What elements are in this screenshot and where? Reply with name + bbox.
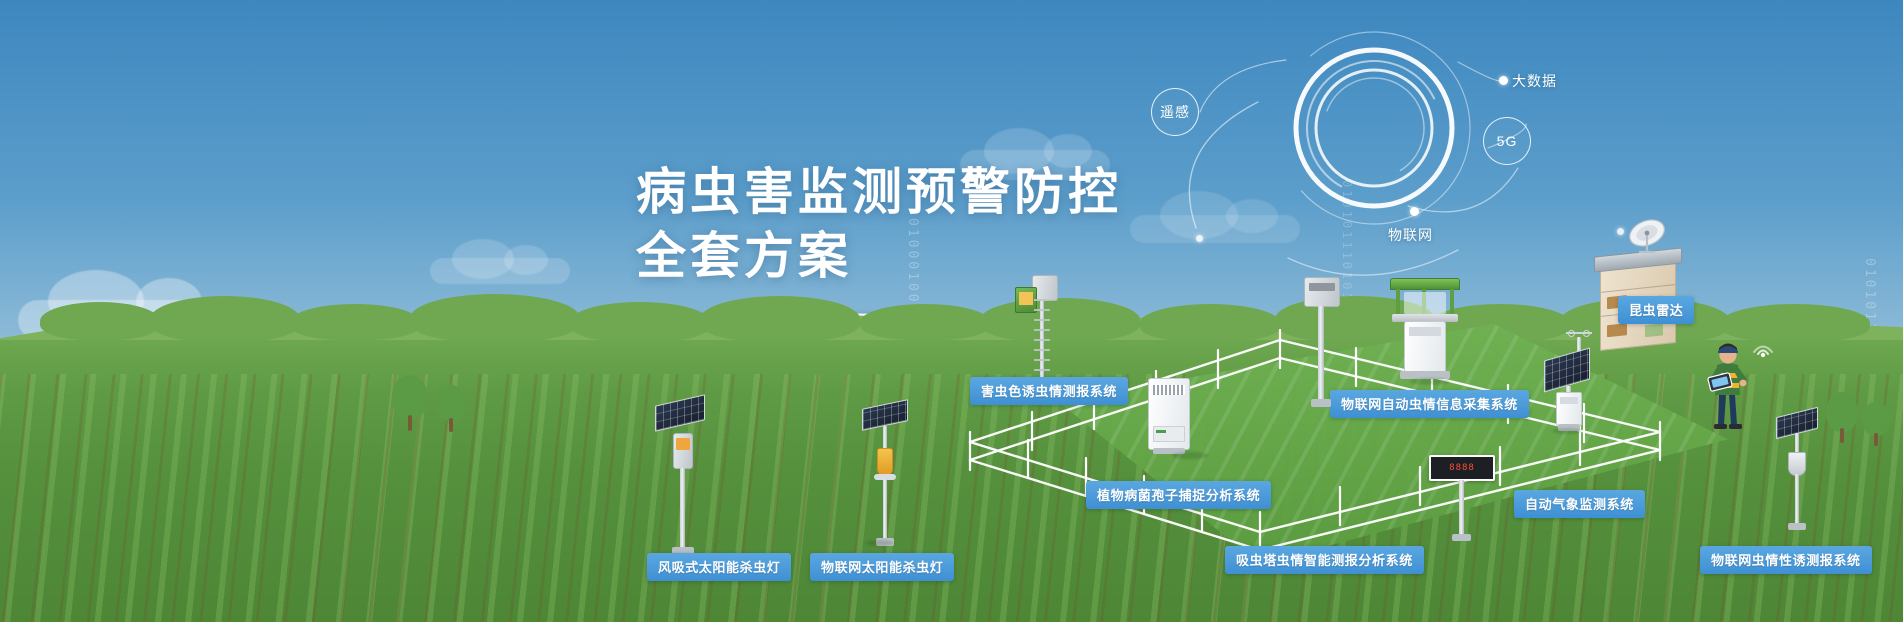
device-shadow: [1172, 452, 1208, 459]
led-display-board: 8888: [1429, 455, 1495, 481]
wifi-signal-icon: [1750, 336, 1776, 363]
ai-brain-hub: AI大脑: [1108, 28, 1528, 248]
ai-hub-rings: [1108, 28, 1528, 258]
label-spore-capture[interactable]: 植物病菌孢子捕捉分析系统: [1086, 481, 1271, 509]
node-big-data-label[interactable]: 大数据: [1512, 71, 1557, 91]
device-shadow: [1552, 428, 1582, 434]
led-display-text: 8888: [1449, 463, 1475, 473]
node-iot-label[interactable]: 物联网: [1388, 225, 1433, 245]
node-big-data-dot: [1499, 76, 1508, 85]
label-iot-pheromone-trap[interactable]: 物联网虫情性诱测报系统: [1700, 546, 1872, 574]
label-iot-pest-collection[interactable]: 物联网自动虫情信息采集系统: [1330, 390, 1529, 418]
page-title: 病虫害监测预警防控 全套方案: [636, 160, 1122, 288]
label-wind-suction-solar-insect-lamp[interactable]: 风吸式太阳能杀虫灯: [647, 553, 791, 581]
device-shadow: [866, 540, 894, 546]
label-iot-solar-insect-lamp[interactable]: 物联网太阳能杀虫灯: [810, 553, 954, 581]
device-suction-tower[interactable]: [1300, 277, 1344, 407]
node-remote-sensing[interactable]: 遥感: [1151, 88, 1199, 136]
node-remote-sensing-label: 遥感: [1160, 102, 1190, 122]
field-worker: [1705, 339, 1751, 425]
label-pest-color-trap[interactable]: 害虫色诱虫情测报系统: [970, 377, 1128, 405]
label-weather-station[interactable]: 自动气象监测系统: [1514, 490, 1645, 518]
node-5g[interactable]: 5G: [1483, 117, 1531, 165]
node-5g-label: 5G: [1497, 133, 1518, 149]
orbit-endpoint-dot: [1617, 228, 1624, 235]
banner-root: 0100010011100 0101011101010001 0 0101011…: [0, 0, 1903, 622]
led-board-base: [1452, 534, 1471, 541]
node-iot-dot: [1410, 207, 1419, 216]
led-board-pole: [1459, 480, 1464, 536]
label-suction-tower[interactable]: 吸虫塔虫情智能测报分析系统: [1225, 546, 1424, 574]
orbit-endpoint-dot: [1196, 235, 1203, 242]
device-shadow: [1410, 378, 1450, 385]
radar-dish-icon: [1625, 218, 1669, 258]
label-insect-radar[interactable]: 昆虫雷达: [1618, 296, 1694, 324]
